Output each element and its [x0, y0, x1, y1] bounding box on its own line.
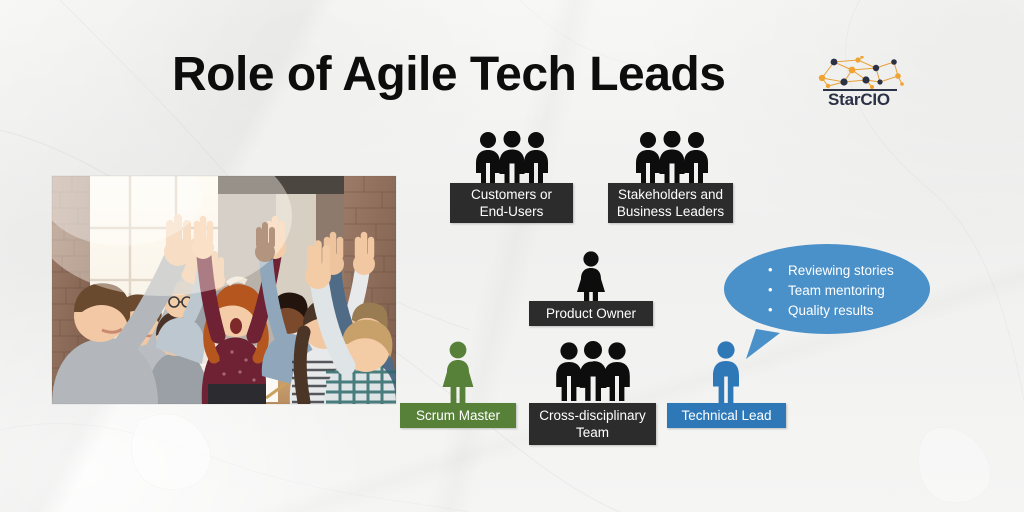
node-stakeholders[interactable]: Stakeholders andBusiness Leaders — [608, 183, 733, 223]
node-product-owner-label: Product Owner — [546, 305, 636, 322]
node-customers[interactable]: Customers orEnd-Users — [450, 183, 573, 223]
node-technical-lead[interactable]: Technical Lead — [667, 403, 786, 428]
node-customers-label: Customers orEnd-Users — [471, 186, 552, 220]
bullet-item: Team mentoring — [766, 281, 894, 301]
node-cross-disciplinary-team[interactable]: Cross-disciplinaryTeam — [529, 403, 656, 445]
starcio-logo: StarCIO — [814, 56, 904, 110]
speech-bubble: Reviewing stories Team mentoring Quality… — [722, 241, 932, 361]
node-scrum-master-label: Scrum Master — [416, 407, 500, 424]
team-celebration-photo — [52, 176, 396, 404]
node-stakeholders-label: Stakeholders andBusiness Leaders — [617, 186, 724, 220]
three-people-icon — [553, 341, 633, 406]
woman-icon — [573, 251, 609, 308]
node-cross-disciplinary-team-label: Cross-disciplinaryTeam — [539, 407, 646, 441]
node-product-owner[interactable]: Product Owner — [529, 301, 653, 326]
node-technical-lead-label: Technical Lead — [681, 407, 771, 424]
logo-wordmark: StarCIO — [814, 90, 904, 110]
node-scrum-master[interactable]: Scrum Master — [400, 403, 516, 428]
woman-icon — [440, 341, 476, 408]
slide-canvas: Role of Agile Tech Leads — [0, 0, 1024, 512]
three-people-icon — [472, 131, 552, 190]
page-title: Role of Agile Tech Leads — [172, 50, 725, 100]
bullet-item: Reviewing stories — [766, 261, 894, 281]
three-people-icon — [632, 131, 712, 190]
speech-bubble-bullets: Reviewing stories Team mentoring Quality… — [766, 261, 894, 321]
bullet-item: Quality results — [766, 301, 894, 321]
network-constellation-icon — [814, 56, 904, 90]
